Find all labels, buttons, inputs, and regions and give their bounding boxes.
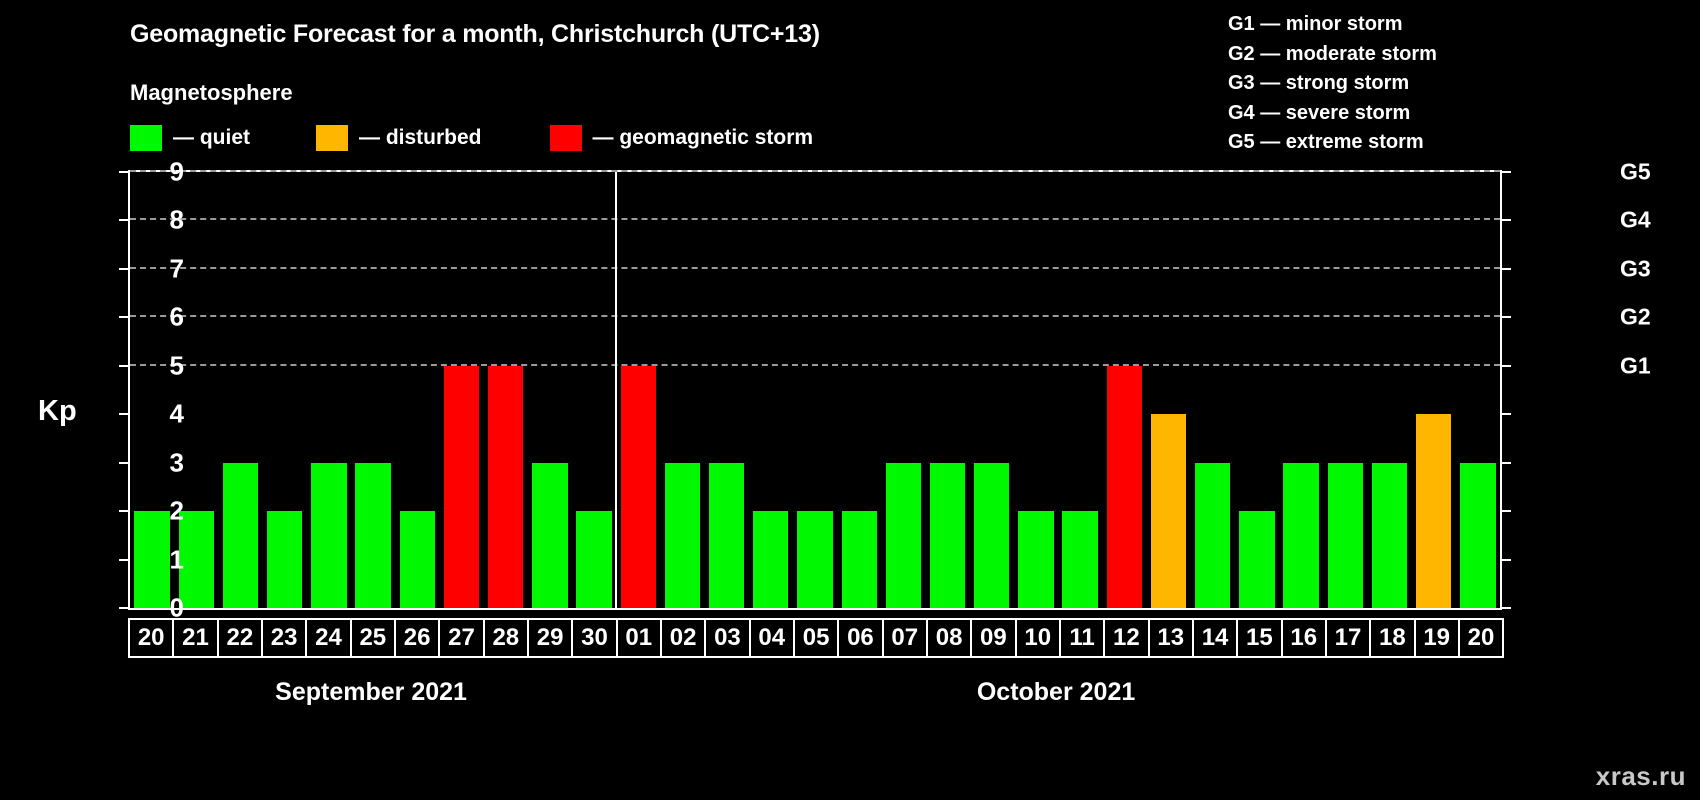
bar-october-17[interactable] bbox=[1328, 463, 1363, 608]
right-axis-label-g2: G2 bbox=[1620, 304, 1680, 331]
bar-october-09[interactable] bbox=[974, 463, 1009, 608]
bar-september-26[interactable] bbox=[400, 511, 435, 608]
y-label-6: 6 bbox=[144, 302, 184, 333]
right-axis-label-g3: G3 bbox=[1620, 255, 1680, 282]
date-cell-september-25[interactable]: 25 bbox=[350, 618, 396, 658]
legend-swatch-disturbed-icon bbox=[316, 125, 348, 151]
date-cell-october-11[interactable]: 11 bbox=[1059, 618, 1105, 658]
date-cell-october-20[interactable]: 20 bbox=[1458, 618, 1504, 658]
plot-area bbox=[128, 170, 1502, 610]
right-axis-label-g4: G4 bbox=[1620, 207, 1680, 234]
bar-october-05[interactable] bbox=[797, 511, 832, 608]
bar-october-02[interactable] bbox=[665, 463, 700, 608]
y-tick-left-1 bbox=[119, 559, 128, 561]
right-axis-label-g5: G5 bbox=[1620, 159, 1680, 186]
bar-september-28[interactable] bbox=[488, 366, 523, 608]
bar-september-22[interactable] bbox=[223, 463, 258, 608]
y-tick-left-5 bbox=[119, 365, 128, 367]
date-cell-september-26[interactable]: 26 bbox=[394, 618, 440, 658]
legend-label-quiet: — quiet bbox=[173, 126, 250, 150]
date-cell-october-04[interactable]: 04 bbox=[749, 618, 795, 658]
page-title: Geomagnetic Forecast for a month, Christ… bbox=[130, 20, 820, 49]
date-cell-september-20[interactable]: 20 bbox=[128, 618, 174, 658]
storm-scale-g4: G4 — severe storm bbox=[1228, 99, 1437, 129]
legend-swatch-storm-icon bbox=[550, 125, 582, 151]
date-cell-october-02[interactable]: 02 bbox=[660, 618, 706, 658]
y-tick-right-6 bbox=[1502, 316, 1511, 318]
date-cell-october-10[interactable]: 10 bbox=[1015, 618, 1061, 658]
y-tick-left-8 bbox=[119, 219, 128, 221]
date-cell-october-17[interactable]: 17 bbox=[1325, 618, 1371, 658]
y-tick-left-2 bbox=[119, 510, 128, 512]
y-tick-right-8 bbox=[1502, 219, 1511, 221]
date-cell-september-21[interactable]: 21 bbox=[172, 618, 218, 658]
date-cell-september-24[interactable]: 24 bbox=[305, 618, 351, 658]
date-axis: 2021222324252627282930010203040506070809… bbox=[128, 618, 1502, 658]
bar-october-06[interactable] bbox=[842, 511, 877, 608]
bar-september-30[interactable] bbox=[576, 511, 611, 608]
bar-october-19[interactable] bbox=[1416, 414, 1451, 608]
y-label-8: 8 bbox=[144, 205, 184, 236]
bar-september-27[interactable] bbox=[444, 366, 479, 608]
date-cell-october-07[interactable]: 07 bbox=[882, 618, 928, 658]
y-tick-left-0 bbox=[119, 607, 128, 609]
date-cell-october-05[interactable]: 05 bbox=[793, 618, 839, 658]
y-label-3: 3 bbox=[144, 447, 184, 478]
date-cell-october-01[interactable]: 01 bbox=[616, 618, 662, 658]
legend-item-storm: — geomagnetic storm bbox=[550, 125, 814, 151]
storm-scale-key: G1 — minor storm G2 — moderate storm G3 … bbox=[1228, 10, 1437, 158]
date-cell-october-18[interactable]: 18 bbox=[1369, 618, 1415, 658]
y-tick-right-7 bbox=[1502, 268, 1511, 270]
y-axis-title: Kp bbox=[38, 395, 77, 428]
bar-september-25[interactable] bbox=[355, 463, 390, 608]
date-cell-october-15[interactable]: 15 bbox=[1236, 618, 1282, 658]
legend-label-storm: — geomagnetic storm bbox=[593, 126, 814, 150]
bar-october-10[interactable] bbox=[1018, 511, 1053, 608]
bar-october-13[interactable] bbox=[1151, 414, 1186, 608]
watermark: xras.ru bbox=[1596, 761, 1686, 792]
date-cell-september-29[interactable]: 29 bbox=[527, 618, 573, 658]
bar-september-23[interactable] bbox=[267, 511, 302, 608]
y-tick-left-7 bbox=[119, 268, 128, 270]
y-label-4: 4 bbox=[144, 399, 184, 430]
y-label-1: 1 bbox=[144, 544, 184, 575]
month-divider bbox=[615, 172, 617, 608]
bar-october-08[interactable] bbox=[930, 463, 965, 608]
bar-october-14[interactable] bbox=[1195, 463, 1230, 608]
storm-scale-g3: G3 — strong storm bbox=[1228, 69, 1437, 99]
date-cell-september-28[interactable]: 28 bbox=[483, 618, 529, 658]
y-tick-right-0 bbox=[1502, 607, 1511, 609]
bar-october-04[interactable] bbox=[753, 511, 788, 608]
y-label-2: 2 bbox=[144, 496, 184, 527]
bar-october-01[interactable] bbox=[621, 366, 656, 608]
legend-item-quiet: — quiet bbox=[130, 125, 250, 151]
bar-october-20[interactable] bbox=[1460, 463, 1495, 608]
date-cell-september-27[interactable]: 27 bbox=[438, 618, 484, 658]
storm-scale-g2: G2 — moderate storm bbox=[1228, 40, 1437, 70]
month-caption-first: September 2021 bbox=[231, 678, 511, 707]
right-axis-label-g1: G1 bbox=[1620, 352, 1680, 379]
legend-label-disturbed: — disturbed bbox=[359, 126, 482, 150]
bar-october-12[interactable] bbox=[1107, 366, 1142, 608]
date-cell-october-19[interactable]: 19 bbox=[1414, 618, 1460, 658]
y-tick-right-1 bbox=[1502, 559, 1511, 561]
legend-item-disturbed: — disturbed bbox=[316, 125, 482, 151]
date-cell-september-23[interactable]: 23 bbox=[261, 618, 307, 658]
bar-october-15[interactable] bbox=[1239, 511, 1274, 608]
storm-scale-g1: G1 — minor storm bbox=[1228, 10, 1437, 40]
date-cell-october-16[interactable]: 16 bbox=[1281, 618, 1327, 658]
date-cell-october-12[interactable]: 12 bbox=[1103, 618, 1149, 658]
chart-root: Geomagnetic Forecast for a month, Christ… bbox=[0, 0, 1700, 800]
bar-september-24[interactable] bbox=[311, 463, 346, 608]
y-tick-left-9 bbox=[119, 171, 128, 173]
date-cell-october-14[interactable]: 14 bbox=[1192, 618, 1238, 658]
y-tick-left-4 bbox=[119, 413, 128, 415]
bar-october-16[interactable] bbox=[1283, 463, 1318, 608]
y-tick-right-9 bbox=[1502, 171, 1511, 173]
y-tick-left-6 bbox=[119, 316, 128, 318]
date-cell-october-13[interactable]: 13 bbox=[1148, 618, 1194, 658]
storm-scale-g5: G5 — extreme storm bbox=[1228, 128, 1437, 158]
y-label-9: 9 bbox=[144, 157, 184, 188]
magnetosphere-label: Magnetosphere bbox=[130, 80, 293, 106]
month-caption-second: October 2021 bbox=[916, 678, 1196, 707]
bar-october-18[interactable] bbox=[1372, 463, 1407, 608]
legend-swatch-quiet-icon bbox=[130, 125, 162, 151]
date-cell-october-09[interactable]: 09 bbox=[970, 618, 1016, 658]
y-tick-right-3 bbox=[1502, 462, 1511, 464]
date-cell-september-30[interactable]: 30 bbox=[571, 618, 617, 658]
bar-october-07[interactable] bbox=[886, 463, 921, 608]
bar-october-03[interactable] bbox=[709, 463, 744, 608]
bars-container bbox=[130, 172, 1500, 608]
y-tick-right-4 bbox=[1502, 413, 1511, 415]
date-cell-october-03[interactable]: 03 bbox=[704, 618, 750, 658]
legend: — quiet — disturbed — geomagnetic storm bbox=[130, 125, 813, 151]
y-tick-right-5 bbox=[1502, 365, 1511, 367]
date-cell-october-06[interactable]: 06 bbox=[837, 618, 883, 658]
y-tick-left-3 bbox=[119, 462, 128, 464]
date-cell-september-22[interactable]: 22 bbox=[217, 618, 263, 658]
y-label-5: 5 bbox=[144, 350, 184, 381]
bar-september-29[interactable] bbox=[532, 463, 567, 608]
date-cell-october-08[interactable]: 08 bbox=[926, 618, 972, 658]
y-tick-right-2 bbox=[1502, 510, 1511, 512]
y-label-7: 7 bbox=[144, 253, 184, 284]
bar-october-11[interactable] bbox=[1062, 511, 1097, 608]
